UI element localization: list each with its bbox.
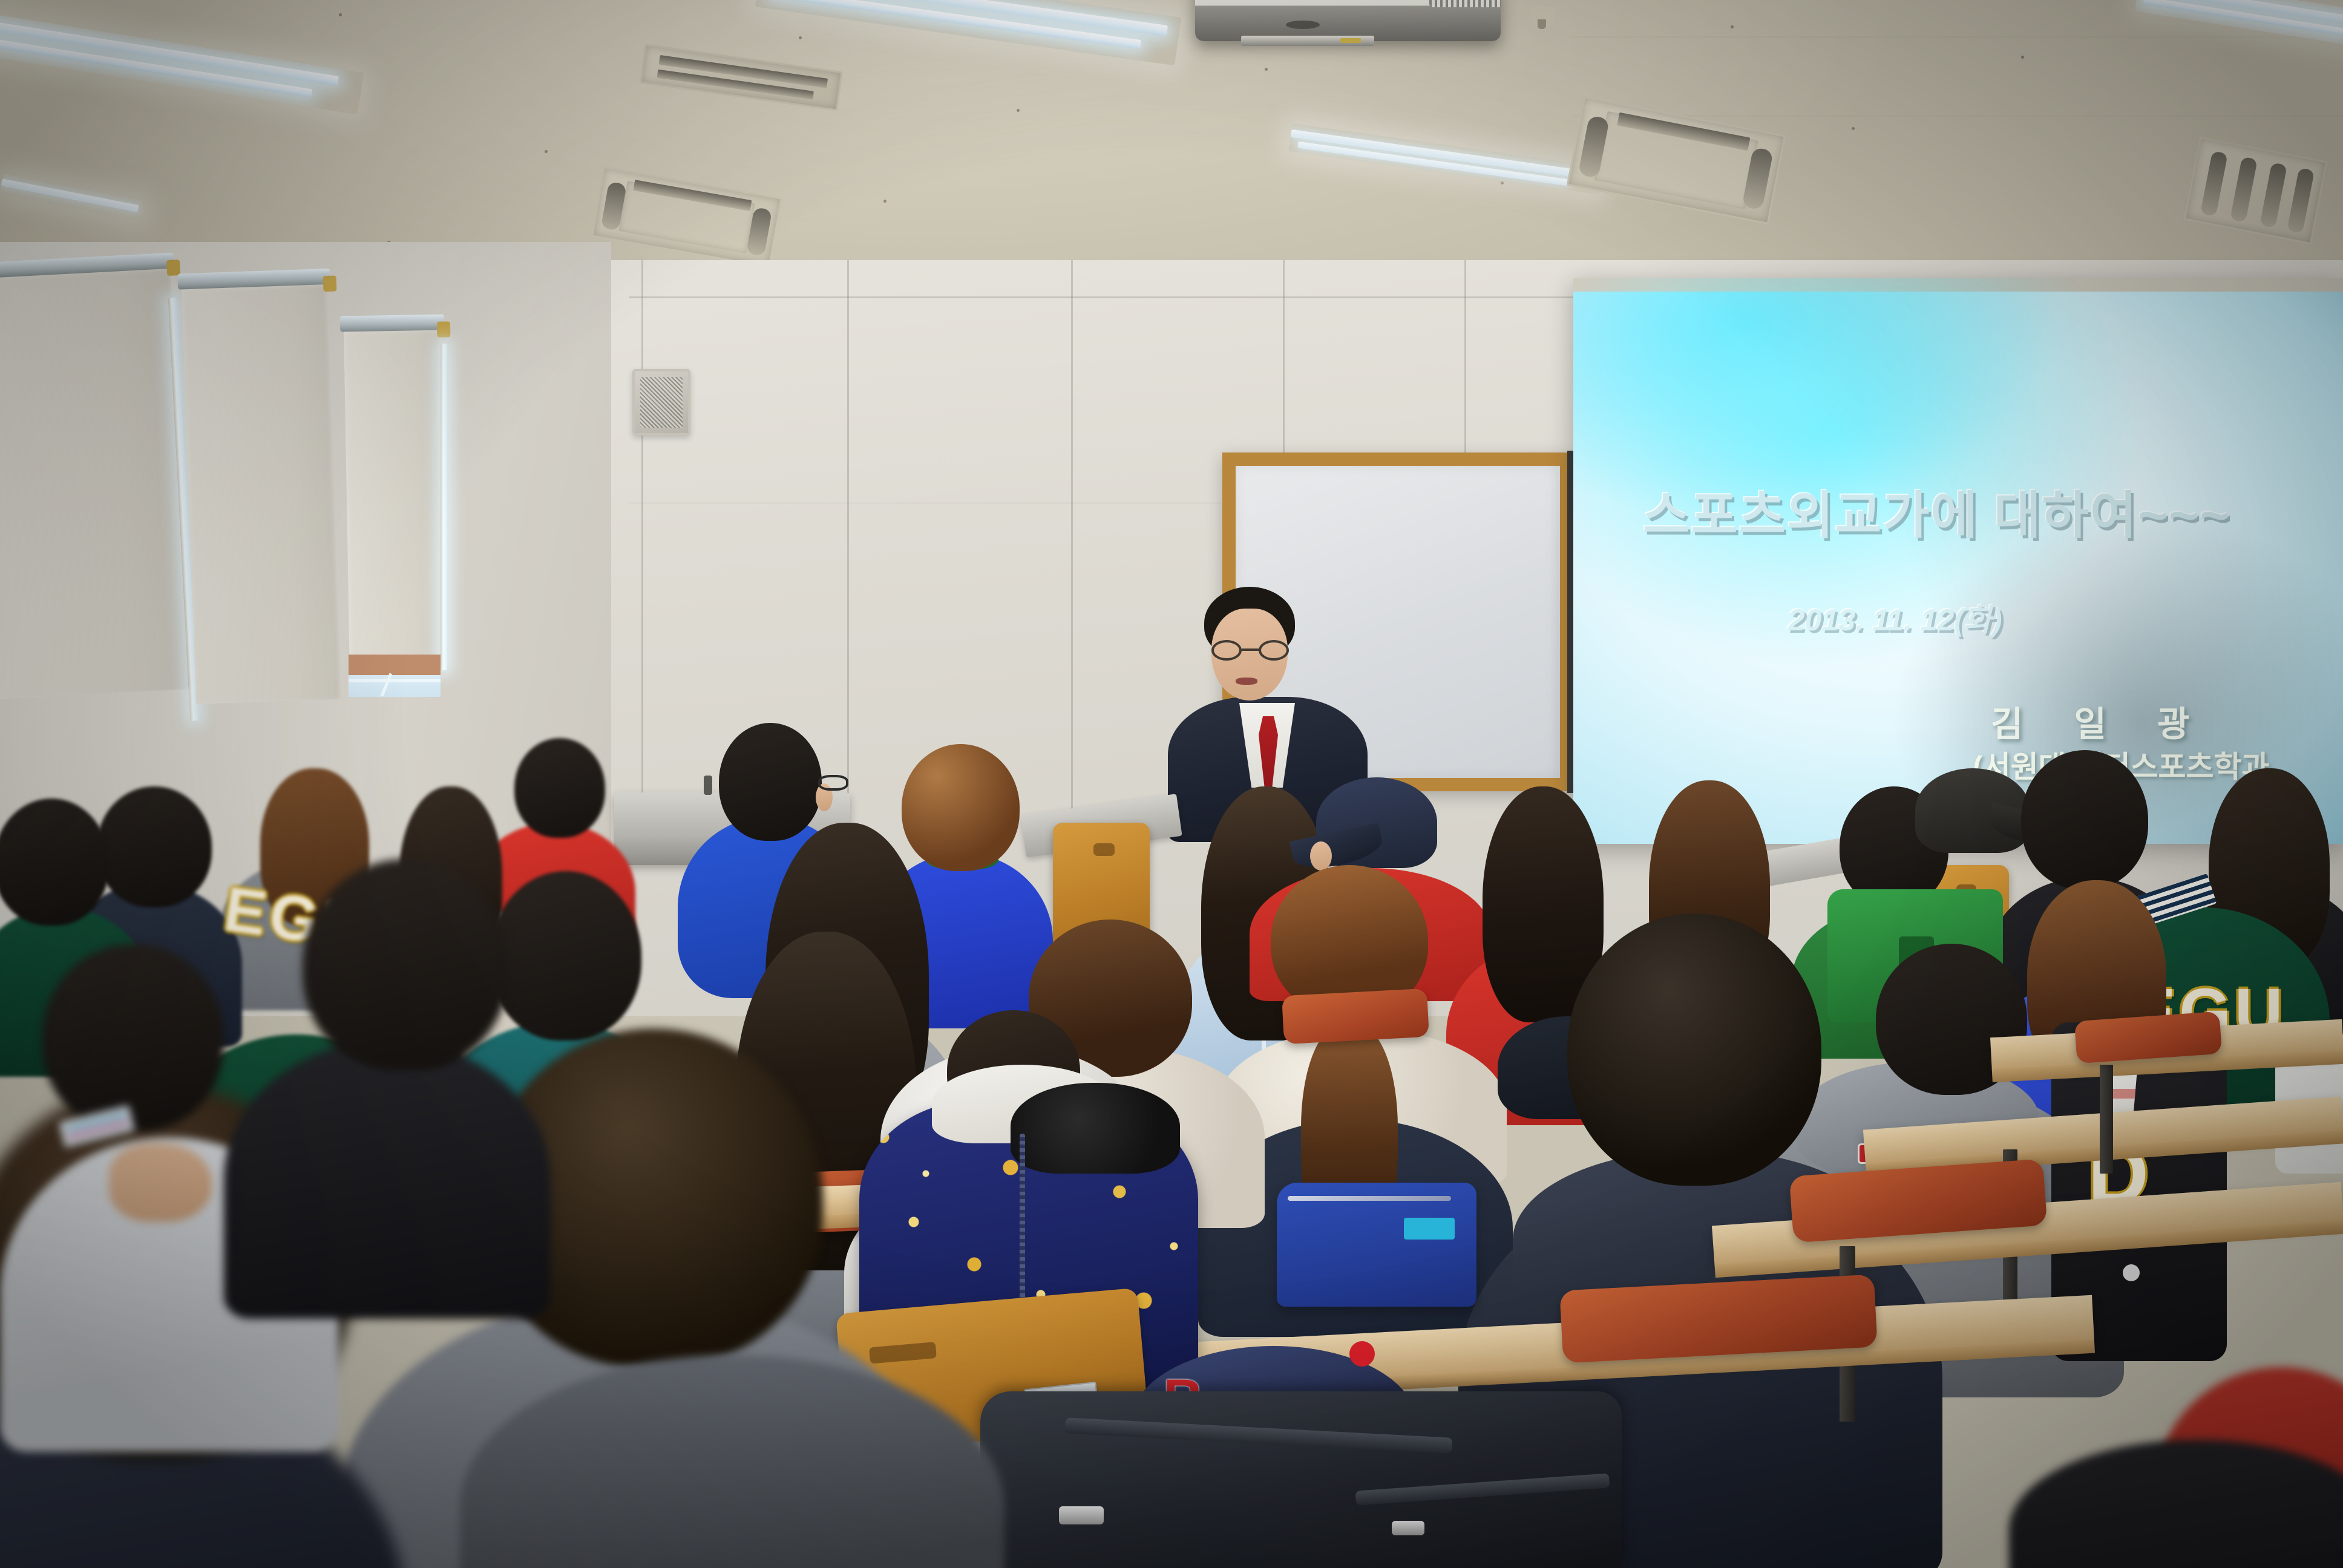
desk-leg — [2100, 1065, 2113, 1174]
cap-button — [1349, 1341, 1375, 1367]
speaker-mesh — [640, 377, 683, 428]
eyeglasses-icon — [818, 775, 848, 791]
blind-rail[interactable] — [340, 315, 444, 332]
baseball-cap — [1915, 768, 2030, 853]
head — [1567, 913, 1821, 1186]
chair-handle-slot — [1093, 843, 1115, 857]
eyeglasses-icon — [1209, 640, 1291, 661]
ear — [1310, 841, 1332, 871]
projector-vent-grille — [1429, 0, 1501, 7]
chair-handle-slot — [869, 1342, 937, 1364]
head — [97, 786, 212, 907]
hair — [902, 744, 1020, 871]
projection-screen: 스포츠외교가에 대하여~~~ 2013. 11. 12(화) 김 일 광 (서원… — [1573, 278, 2343, 844]
bag-strap — [1065, 1417, 1452, 1453]
slide-title: 스포츠외교가에 대하여~~~ — [1643, 475, 2284, 548]
chair-back[interactable] — [1282, 988, 1429, 1044]
bag-buckle[interactable] — [1392, 1521, 1424, 1535]
window-roller-blind[interactable] — [182, 282, 341, 704]
jacket — [224, 1040, 551, 1319]
projector-lens-plate — [1241, 36, 1374, 46]
ceiling-projector — [1195, 0, 1501, 41]
hand — [109, 1143, 212, 1222]
slide-author-name: 김 일 광 — [1991, 696, 2210, 746]
blue-shoulder-bag — [1277, 1183, 1476, 1307]
window-roller-blind[interactable] — [0, 266, 192, 699]
window-roller-blind[interactable] — [344, 328, 447, 668]
black-backpack — [980, 1391, 1622, 1568]
head — [303, 859, 508, 1071]
cabinet-handle[interactable] — [704, 776, 712, 795]
head — [0, 799, 109, 926]
bag-zipper — [1288, 1196, 1451, 1201]
window-opening — [349, 655, 441, 697]
wall-speaker — [632, 369, 690, 436]
slide-date: 2013. 11. 12(화) — [1788, 596, 2002, 639]
jacket — [2009, 1440, 2343, 1568]
bag-buckle[interactable] — [1059, 1506, 1104, 1524]
exterior-brick-wall — [349, 655, 441, 675]
ceiling-sprinkler — [1530, 6, 1555, 27]
head — [719, 723, 822, 841]
jacket-button — [2123, 1264, 2140, 1281]
head — [490, 871, 641, 1040]
bag-tag — [1404, 1218, 1455, 1240]
presenter-mouth — [1236, 678, 1257, 685]
head — [42, 944, 224, 1131]
projector-mount-foot — [1286, 21, 1320, 29]
window-daylight-gap — [441, 344, 447, 670]
fur-trim — [1011, 1083, 1180, 1174]
baseball-cap — [1316, 777, 1437, 868]
bag-strap — [1355, 1473, 1610, 1505]
photograph-lecture-hall: 스포츠외교가에 대하여~~~ 2013. 11. 12(화) 김 일 광 (서원… — [0, 0, 2343, 1568]
head — [2021, 750, 2148, 889]
head — [514, 738, 605, 838]
